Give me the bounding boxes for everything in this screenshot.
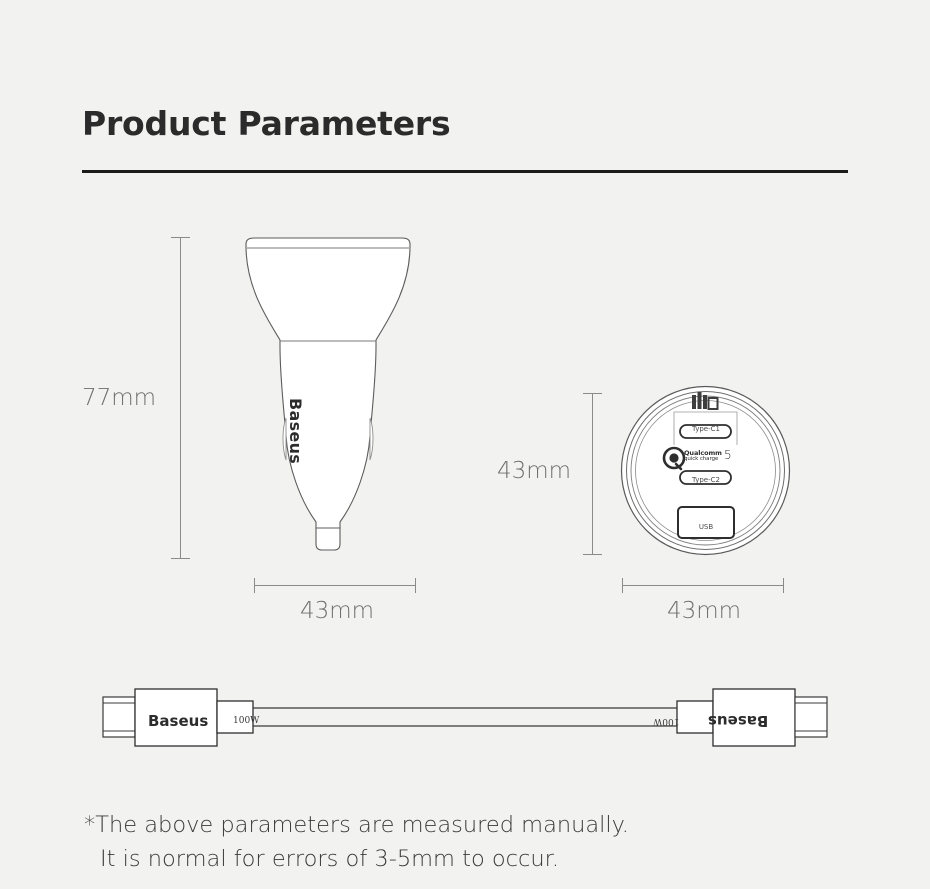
cable-wattage-label-left: 100W bbox=[233, 716, 259, 726]
charger-front-view-illustration bbox=[618, 383, 793, 558]
product-parameters-page: Product Parameters Baseus 77mm 43mm bbox=[0, 0, 930, 889]
port-label-type-c2: Type-C2 bbox=[686, 476, 726, 484]
charger-side-view-illustration bbox=[228, 228, 428, 558]
dimension-line-diameter bbox=[592, 393, 593, 555]
disclaimer-line-2: It is normal for errors of 3-5mm to occu… bbox=[84, 842, 629, 876]
cable-brand-label-left: Baseus bbox=[148, 712, 208, 730]
dimension-label-diameter: 43mm bbox=[497, 458, 571, 484]
dimension-line-height bbox=[180, 237, 181, 559]
charger-brand-label: Baseus bbox=[286, 398, 305, 464]
dimension-label-side-width: 43mm bbox=[300, 598, 374, 624]
dimension-line-front-width bbox=[622, 585, 784, 586]
header-divider bbox=[82, 170, 848, 173]
cable-wattage-label-right: 100W bbox=[653, 716, 679, 726]
cable-brand-label-right: Baseus bbox=[708, 712, 768, 730]
disclaimer-note: *The above parameters are measured manua… bbox=[84, 808, 629, 876]
dimension-label-height: 77mm bbox=[82, 385, 156, 411]
disclaimer-line-1: *The above parameters are measured manua… bbox=[84, 812, 629, 838]
port-label-type-c1: Type-C1 bbox=[686, 425, 726, 433]
port-label-usb: USB bbox=[686, 523, 726, 531]
dimension-line-side-width bbox=[254, 585, 416, 586]
dimension-label-front-width: 43mm bbox=[667, 598, 741, 624]
qualcomm-subtitle-label: quick charge bbox=[684, 456, 718, 462]
qualcomm-version-label: 5 bbox=[724, 448, 732, 462]
page-title: Product Parameters bbox=[82, 104, 450, 143]
